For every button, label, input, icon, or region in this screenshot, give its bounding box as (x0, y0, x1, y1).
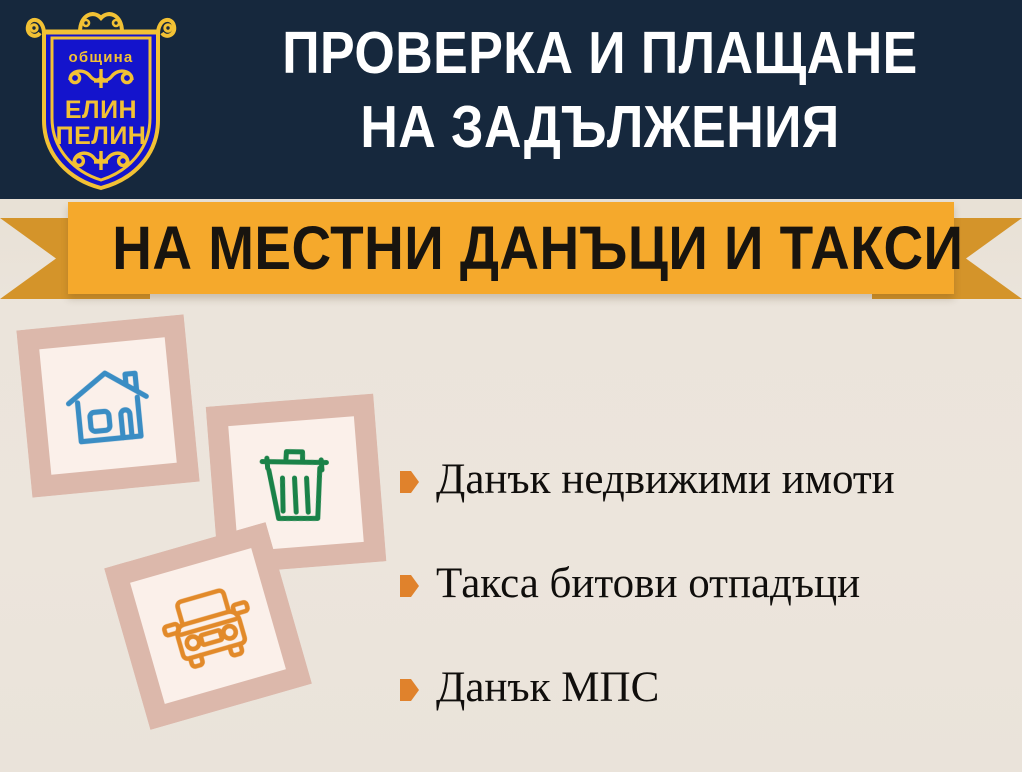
municipality-logo[interactable]: община ЕЛИН ПЕЛИН (22, 8, 180, 193)
stamp-card-property (16, 314, 199, 497)
trash-bin-icon (254, 440, 338, 528)
arrow-bullet-icon (400, 575, 419, 597)
page-title: ПРОВЕРКА И ПЛАЩАНЕ НА ЗАДЪЛЖЕНИЯ (239, 16, 961, 164)
car-icon (153, 576, 263, 676)
list-item[interactable]: Данък МПС (400, 636, 1010, 740)
house-icon (61, 363, 154, 449)
logo-name-line-1: ЕЛИН (65, 96, 137, 124)
page-title-line-1: ПРОВЕРКА И ПЛАЩАНЕ (282, 20, 917, 86)
page-title-line-2: НА ЗАДЪЛЖЕНИЯ (239, 90, 961, 164)
logo-name-line-2: ПЕЛИН (56, 122, 147, 150)
list-item-label: Данък недвижими имоти (436, 457, 895, 502)
tax-types-list: Данък недвижими имоти Такса битови отпад… (400, 428, 1010, 740)
poster-canvas: ПРОВЕРКА И ПЛАЩАНЕ НА ЗАДЪЛЖЕНИЯ (0, 0, 1022, 772)
ribbon-banner: НА МЕСТНИ ДАНЪЦИ И ТАКСИ (0, 197, 1022, 309)
list-item-label: Данък МПС (436, 665, 659, 710)
list-item[interactable]: Данък недвижими имоти (400, 428, 1010, 532)
list-item-label: Такса битови отпадъци (436, 561, 860, 606)
stamp-inner-property (39, 337, 176, 474)
logo-top-text: община (69, 49, 134, 66)
arrow-bullet-icon (400, 471, 419, 493)
arrow-bullet-icon (400, 679, 419, 701)
stamp-inner-vehicle (130, 548, 286, 704)
ribbon-label: НА МЕСТНИ ДАНЪЦИ И ТАКСИ (112, 202, 909, 294)
list-item[interactable]: Такса битови отпадъци (400, 532, 1010, 636)
